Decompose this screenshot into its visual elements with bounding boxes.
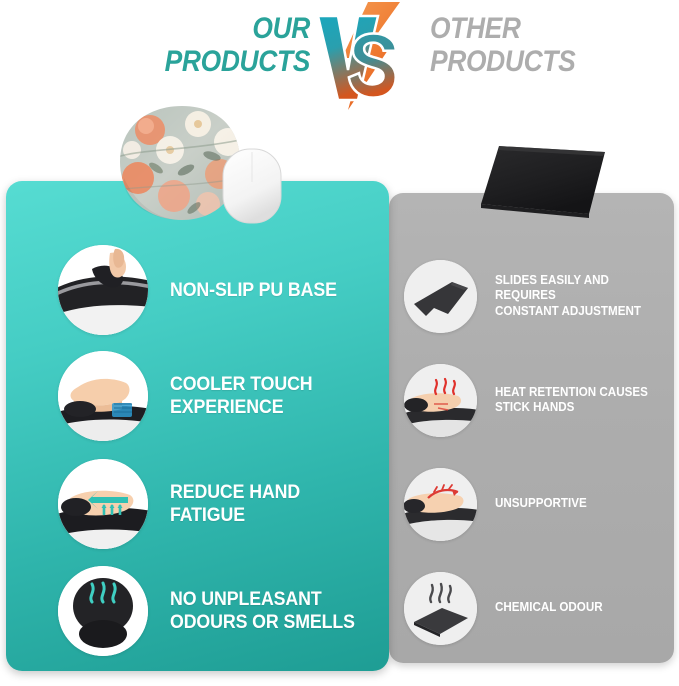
our-feature-label-2: COOLER TOUCH EXPERIENCE [170,373,313,419]
other-feature-row-2: HEAT RETENTION CAUSES STICK HANDS [404,360,670,440]
our-feature-row-4: NO UNPLEASANT ODOURS OR SMELLS [58,565,378,657]
our-products-title: OUR PRODUCTS [134,12,310,78]
other-feature-label-4: CHEMICAL ODOUR [495,600,603,616]
our-feature-label-4: NO UNPLEASANT ODOURS OR SMELLS [170,588,355,634]
chemical-odour-pad-icon [404,572,477,645]
other-feature-label-1: SLIDES EASILY AND REQUIRES CONSTANT ADJU… [495,273,658,320]
unsupportive-hand-icon [404,468,477,541]
other-product-image [477,140,610,225]
vs-logo [308,0,412,112]
odour-free-pad-icon [58,566,148,656]
sliding-flat-pad-icon [404,260,477,333]
our-feature-row-2: COOLER TOUCH EXPERIENCE [58,350,378,442]
other-feature-row-1: SLIDES EASILY AND REQUIRES CONSTANT ADJU… [404,256,670,336]
our-feature-label-3: REDUCE HAND FATIGUE [170,481,359,527]
our-product-image [108,104,288,227]
other-products-title: OTHER PRODUCTS [430,12,632,78]
other-feature-label-2: HEAT RETENTION CAUSES STICK HANDS [495,385,648,416]
our-feature-row-3: REDUCE HAND FATIGUE [58,458,378,550]
comparison-header: OUR PRODUCTS [0,0,679,115]
other-feature-row-3: UNSUPPORTIVE [404,464,670,544]
our-feature-label-1: NON-SLIP PU BASE [170,279,337,302]
heat-retention-hand-icon [404,364,477,437]
other-feature-label-3: UNSUPPORTIVE [495,496,587,512]
cool-hand-on-pad-photo [58,351,148,441]
our-feature-row-1: NON-SLIP PU BASE [58,244,378,336]
other-feature-row-4: CHEMICAL ODOUR [404,568,670,648]
black-mouse-pad [481,146,605,214]
hand-support-arrows-photo [58,459,148,549]
pu-base-peel-photo [58,245,148,335]
